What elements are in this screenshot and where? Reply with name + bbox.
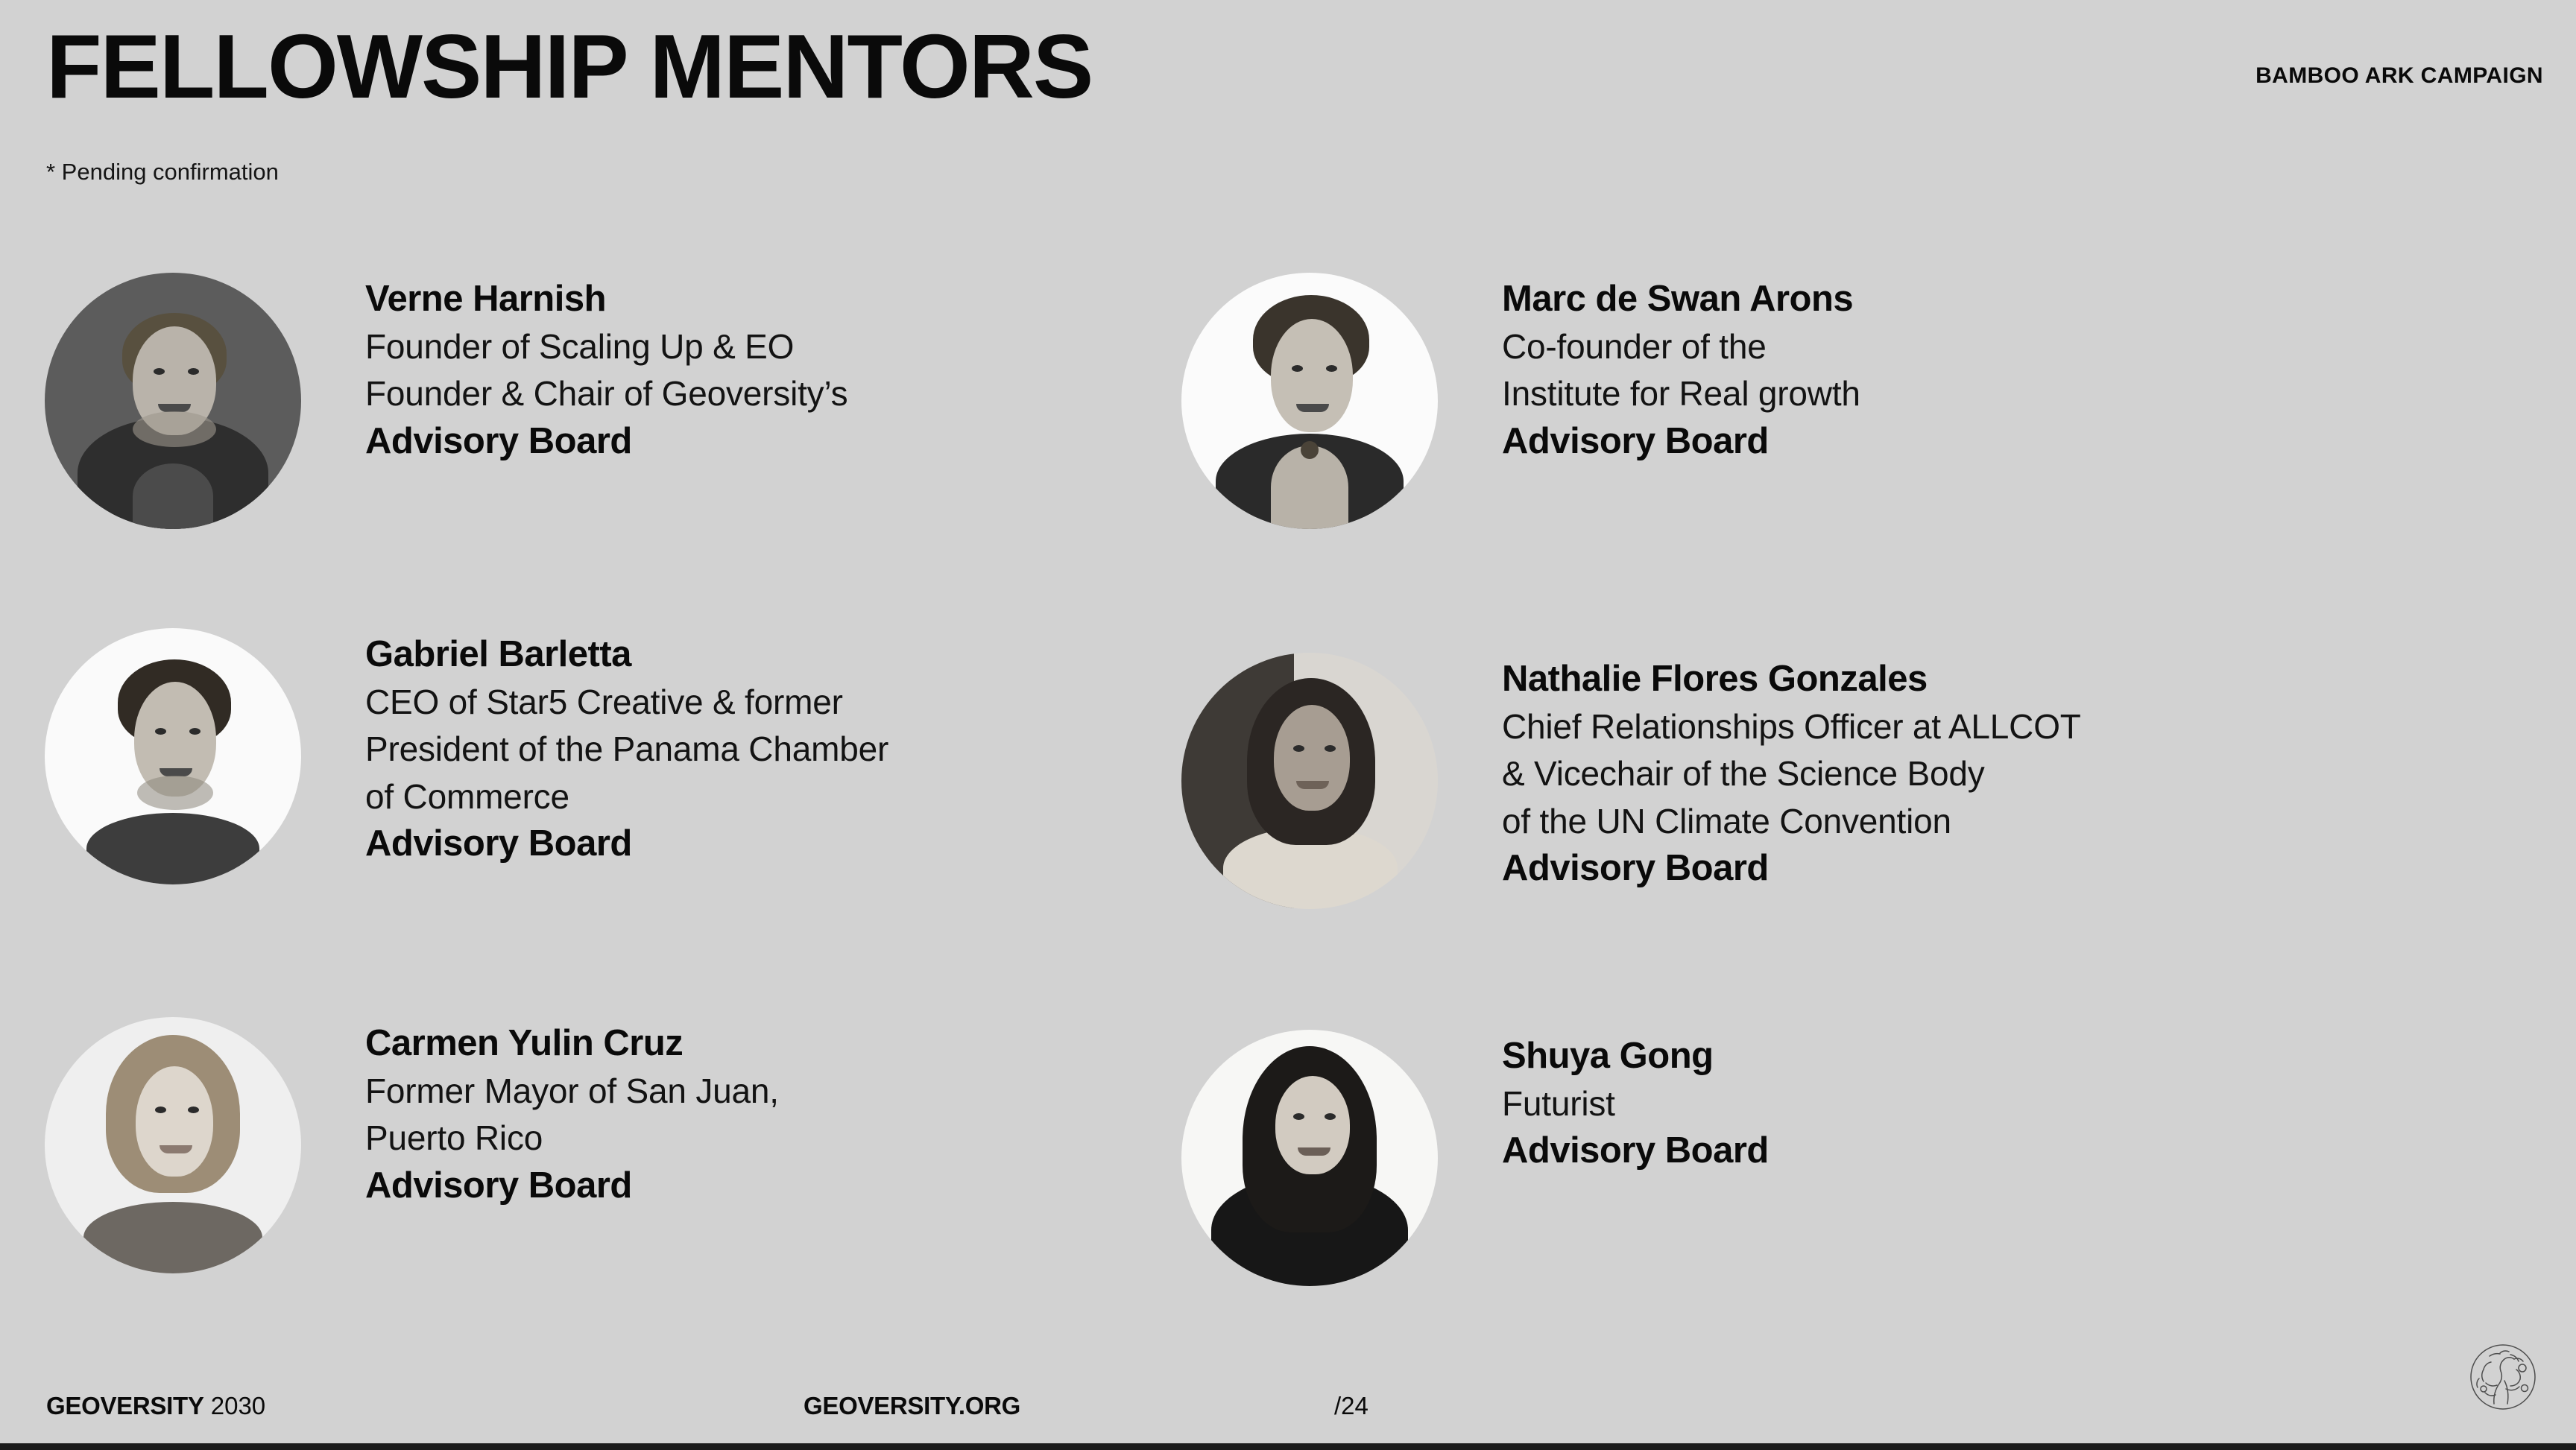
mentor-name: Gabriel Barletta [365, 631, 888, 679]
bottom-bar [0, 1443, 2576, 1450]
mentor-name: Nathalie Flores Gonzales [1502, 656, 2081, 703]
mentor-text: Verne Harnish Founder of Scaling Up & EO… [365, 273, 847, 465]
geoversity-globe-logo-icon [2461, 1335, 2545, 1419]
mentor-name: Verne Harnish [365, 276, 847, 323]
mentor-role: Advisory Board [365, 1162, 779, 1210]
avatar [1181, 273, 1438, 529]
mentor-text: Marc de Swan Arons Co-founder of the Ins… [1502, 273, 1860, 465]
mentor-card: Verne Harnish Founder of Scaling Up & EO… [45, 273, 847, 529]
portrait-image [45, 628, 301, 884]
mentor-text: Nathalie Flores Gonzales Chief Relations… [1502, 653, 2081, 893]
portrait-image [45, 273, 301, 529]
mentor-text: Shuya Gong Futurist Advisory Board [1502, 1030, 1769, 1175]
mentor-card: Nathalie Flores Gonzales Chief Relations… [1181, 653, 2081, 909]
mentor-desc-line: & Vicechair of the Science Body [1502, 750, 2081, 797]
portrait-image [1181, 273, 1438, 529]
mentor-role: Advisory Board [1502, 1127, 1769, 1175]
mentor-desc-line: Co-founder of the [1502, 323, 1860, 370]
mentor-card: Carmen Yulin Cruz Former Mayor of San Ju… [45, 1017, 779, 1273]
mentor-role: Advisory Board [365, 820, 888, 868]
avatar [1181, 653, 1438, 909]
footer-brand-year: 2030 [211, 1392, 265, 1419]
mentor-desc-line: Futurist [1502, 1080, 1769, 1127]
footer-website[interactable]: GEOVERSITY.ORG [804, 1392, 1020, 1420]
mentor-card: Gabriel Barletta CEO of Star5 Creative &… [45, 628, 888, 884]
footer-page-number: /24 [1334, 1392, 1368, 1420]
mentor-desc-line: CEO of Star5 Creative & former [365, 679, 888, 726]
mentor-text: Carmen Yulin Cruz Former Mayor of San Ju… [365, 1017, 779, 1209]
footer-brand-name: GEOVERSITY [46, 1392, 204, 1419]
mentor-text: Gabriel Barletta CEO of Star5 Creative &… [365, 628, 888, 868]
avatar [1181, 1030, 1438, 1286]
mentor-role: Advisory Board [365, 418, 847, 466]
avatar [45, 273, 301, 529]
mentor-desc-line: President of the Panama Chamber [365, 726, 888, 773]
mentor-desc-line: Chief Relationships Officer at ALLCOT [1502, 703, 2081, 750]
avatar [45, 628, 301, 884]
footer-brand: GEOVERSITY 2030 [46, 1392, 265, 1420]
mentor-card: Marc de Swan Arons Co-founder of the Ins… [1181, 273, 1860, 529]
mentor-role: Advisory Board [1502, 845, 2081, 893]
mentor-desc-line: Puerto Rico [365, 1115, 779, 1162]
mentor-desc-line: Former Mayor of San Juan, [365, 1068, 779, 1115]
mentor-card: Shuya Gong Futurist Advisory Board [1181, 1030, 1769, 1286]
avatar [45, 1017, 301, 1273]
mentor-desc-line: Founder & Chair of Geoversity’s [365, 370, 847, 417]
mentor-desc-line: Founder of Scaling Up & EO [365, 323, 847, 370]
portrait-image [45, 1017, 301, 1273]
mentor-desc-line: of the UN Climate Convention [1502, 798, 2081, 845]
mentor-grid: Verne Harnish Founder of Scaling Up & EO… [0, 0, 2576, 1450]
portrait-image [1181, 653, 1438, 909]
mentor-desc-line: Institute for Real growth [1502, 370, 1860, 417]
mentor-name: Carmen Yulin Cruz [365, 1020, 779, 1068]
mentor-name: Shuya Gong [1502, 1033, 1769, 1080]
mentor-role: Advisory Board [1502, 418, 1860, 466]
mentor-desc-line: of Commerce [365, 773, 888, 820]
mentor-name: Marc de Swan Arons [1502, 276, 1860, 323]
portrait-image [1181, 1030, 1438, 1286]
